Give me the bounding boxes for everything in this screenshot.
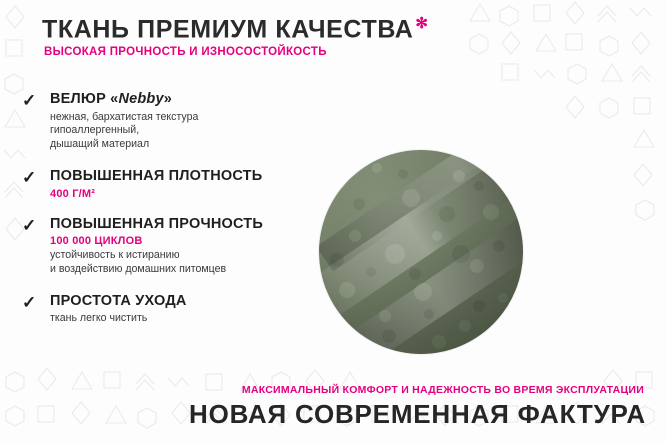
feature-title: ПРОСТОТА УХОДА — [50, 294, 322, 310]
check-icon: ✓ — [22, 92, 40, 110]
list-item: ✓ ПРОСТОТА УХОДА ткань легко чистить — [22, 294, 322, 326]
list-item: ✓ ПОВЫШЕННАЯ ПРОЧНОСТЬ 100 000 ЦИКЛОВ ус… — [22, 217, 322, 277]
feature-description: нежная, бархатистая текстурагипоаллерген… — [50, 111, 322, 152]
check-icon: ✓ — [22, 294, 40, 312]
feature-accent: 400 Г/М² — [50, 188, 322, 200]
feature-title: ВЕЛЮР «Nebby» — [50, 92, 322, 108]
feature-description: устойчивость к истираниюи воздействию до… — [50, 249, 322, 276]
list-item: ✓ ВЕЛЮР «Nebby» нежная, бархатистая текс… — [22, 92, 322, 152]
page-title-text: ТКАНЬ ПРЕМИУМ КАЧЕСТВА — [42, 15, 413, 43]
footer-title: НОВАЯ СОВРЕМЕННАЯ ФАКТУРА — [189, 399, 646, 430]
list-item: ✓ ПОВЫШЕННАЯ ПЛОТНОСТЬ 400 Г/М² — [22, 169, 322, 200]
asterisk-icon: ✻ — [415, 15, 428, 32]
fabric-swatch-image — [319, 150, 523, 354]
fabric-speckle — [319, 150, 523, 354]
page-title: ТКАНЬ ПРЕМИУМ КАЧЕСТВА✻ — [42, 14, 429, 44]
feature-accent: 100 000 ЦИКЛОВ — [50, 235, 322, 247]
feature-title: ПОВЫШЕННАЯ ПЛОТНОСТЬ — [50, 169, 322, 185]
feature-description: ткань легко чистить — [50, 312, 322, 326]
page-subtitle: ВЫСОКАЯ ПРОЧНОСТЬ И ИЗНОСОСТОЙКОСТЬ — [44, 46, 327, 58]
feature-list: ✓ ВЕЛЮР «Nebby» нежная, бархатистая текс… — [22, 92, 322, 343]
feature-title: ПОВЫШЕННАЯ ПРОЧНОСТЬ — [50, 217, 322, 233]
check-icon: ✓ — [22, 217, 40, 235]
check-icon: ✓ — [22, 169, 40, 187]
footer-accent: МАКСИМАЛЬНЫЙ КОМФОРТ И НАДЕЖНОСТЬ ВО ВРЕ… — [242, 384, 644, 396]
promo-banner: ТКАНЬ ПРЕМИУМ КАЧЕСТВА✻ ВЫСОКАЯ ПРОЧНОСТ… — [0, 0, 666, 444]
